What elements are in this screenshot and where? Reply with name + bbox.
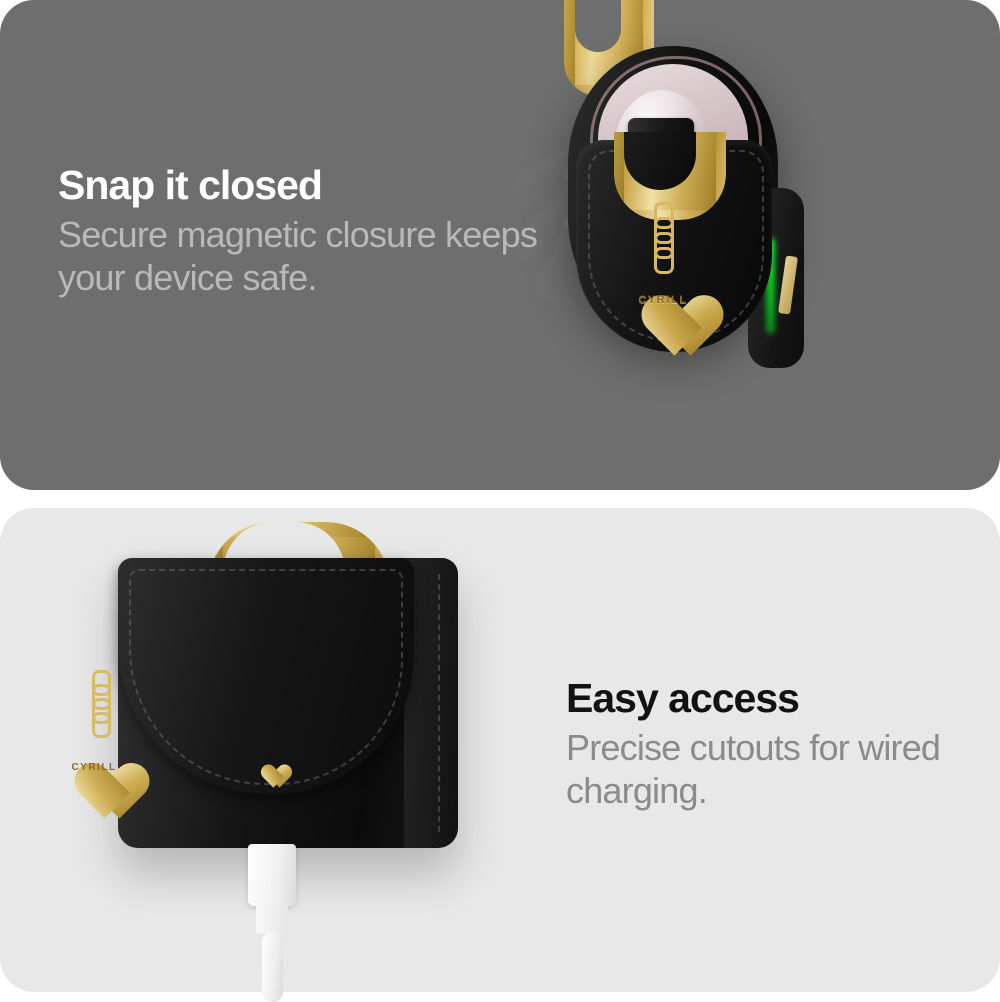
feature-subline: Precise cutouts for wired charging. bbox=[566, 726, 946, 812]
connector-collar bbox=[256, 904, 288, 934]
product-image-easy-access: CYRILL bbox=[30, 500, 550, 1000]
feature-copy-easy-access: Easy access Precise cutouts for wired ch… bbox=[566, 676, 946, 812]
feature-headline: Easy access bbox=[566, 676, 946, 722]
heart-charm-icon: CYRILL bbox=[624, 268, 702, 342]
feature-panel-snap-it-closed: CYRILL Snap it closed Secure magnetic cl… bbox=[0, 0, 1000, 490]
carabiner-opening bbox=[575, 0, 621, 52]
feature-copy-snap-closed: Snap it closed Secure magnetic closure k… bbox=[58, 163, 578, 299]
product-image-snap-closed: CYRILL bbox=[520, 0, 1000, 490]
leather-case-closed bbox=[118, 558, 458, 848]
charging-cable bbox=[262, 932, 283, 1002]
flap-stitching bbox=[129, 569, 403, 785]
side-stitching bbox=[438, 574, 440, 832]
charm-chain bbox=[92, 670, 105, 744]
charging-cable-connector bbox=[248, 844, 296, 906]
heart-snap-stud-icon bbox=[254, 754, 284, 782]
feature-subline: Secure magnetic closure keeps your devic… bbox=[58, 213, 578, 299]
feature-headline: Snap it closed bbox=[58, 163, 578, 209]
product-feature-banner: CYRILL Snap it closed Secure magnetic cl… bbox=[0, 0, 1000, 1000]
heart-charm-icon: CYRILL bbox=[58, 738, 130, 806]
charm-brand-label: CYRILL bbox=[624, 294, 702, 306]
charm-brand-label: CYRILL bbox=[58, 762, 130, 773]
